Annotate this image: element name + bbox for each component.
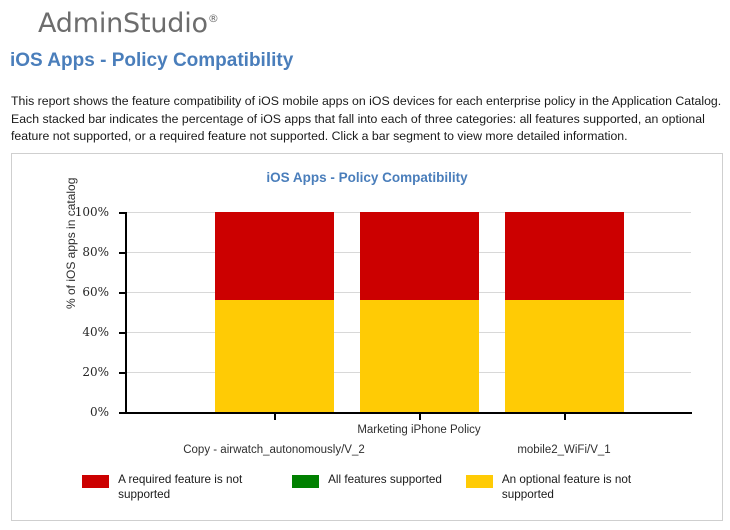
legend-label: A required feature is not supported xyxy=(118,472,268,502)
legend-item-required-not-supported[interactable]: A required feature is not supported xyxy=(82,472,268,502)
report-panel: iOS Apps - Policy Compatibility % of iOS… xyxy=(11,153,723,521)
bar-segment[interactable] xyxy=(360,300,479,412)
y-axis-tick-label: 20% xyxy=(82,365,109,379)
chart-title: iOS Apps - Policy Compatibility xyxy=(12,170,722,185)
page-title: iOS Apps - Policy Compatibility xyxy=(10,50,293,72)
x-axis-tick xyxy=(274,412,276,420)
legend-label: All features supported xyxy=(328,472,442,487)
y-axis-title: % of iOS apps in catalog xyxy=(64,178,78,309)
y-axis-tick-label: 40% xyxy=(82,325,109,339)
report-description: This report shows the feature compatibil… xyxy=(11,93,725,146)
legend-swatch-icon xyxy=(466,475,493,488)
plot-area: 100% 80% 60% 40% 20% 0% xyxy=(126,212,691,412)
legend-swatch-icon xyxy=(292,475,319,488)
legend-label: An optional feature is not supported xyxy=(502,472,652,502)
x-axis-label: Marketing iPhone Policy xyxy=(357,424,480,436)
bar-segment[interactable] xyxy=(215,212,334,300)
stacked-bar xyxy=(505,212,624,412)
x-axis-label: mobile2_WiFi/V_1 xyxy=(517,444,610,456)
bar-segment[interactable] xyxy=(505,212,624,300)
app-logo-text: AdminStudio xyxy=(38,8,208,39)
chart-legend: A required feature is not supported All … xyxy=(12,472,722,502)
x-axis-tick xyxy=(564,412,566,420)
x-axis-line xyxy=(125,412,692,414)
bar-segment[interactable] xyxy=(215,300,334,412)
app-logo: AdminStudio® xyxy=(38,8,219,39)
x-axis-tick xyxy=(419,412,421,420)
bar-segment[interactable] xyxy=(505,300,624,412)
legend-swatch-icon xyxy=(82,475,109,488)
y-axis-tick-label: 100% xyxy=(75,205,109,219)
stacked-bar xyxy=(215,212,334,412)
y-axis-tick-label: 80% xyxy=(82,245,109,259)
y-axis-tick-label: 0% xyxy=(90,405,109,419)
stacked-bar xyxy=(360,212,479,412)
bar-segment[interactable] xyxy=(360,212,479,300)
y-axis-line xyxy=(125,212,127,412)
registered-trademark-icon: ® xyxy=(208,12,219,25)
y-axis-tick-label: 60% xyxy=(82,285,109,299)
x-axis-label: Copy - airwatch_autonomously/V_2 xyxy=(183,444,365,456)
legend-item-all-supported[interactable]: All features supported xyxy=(292,472,442,488)
legend-item-optional-not-supported[interactable]: An optional feature is not supported xyxy=(466,472,652,502)
